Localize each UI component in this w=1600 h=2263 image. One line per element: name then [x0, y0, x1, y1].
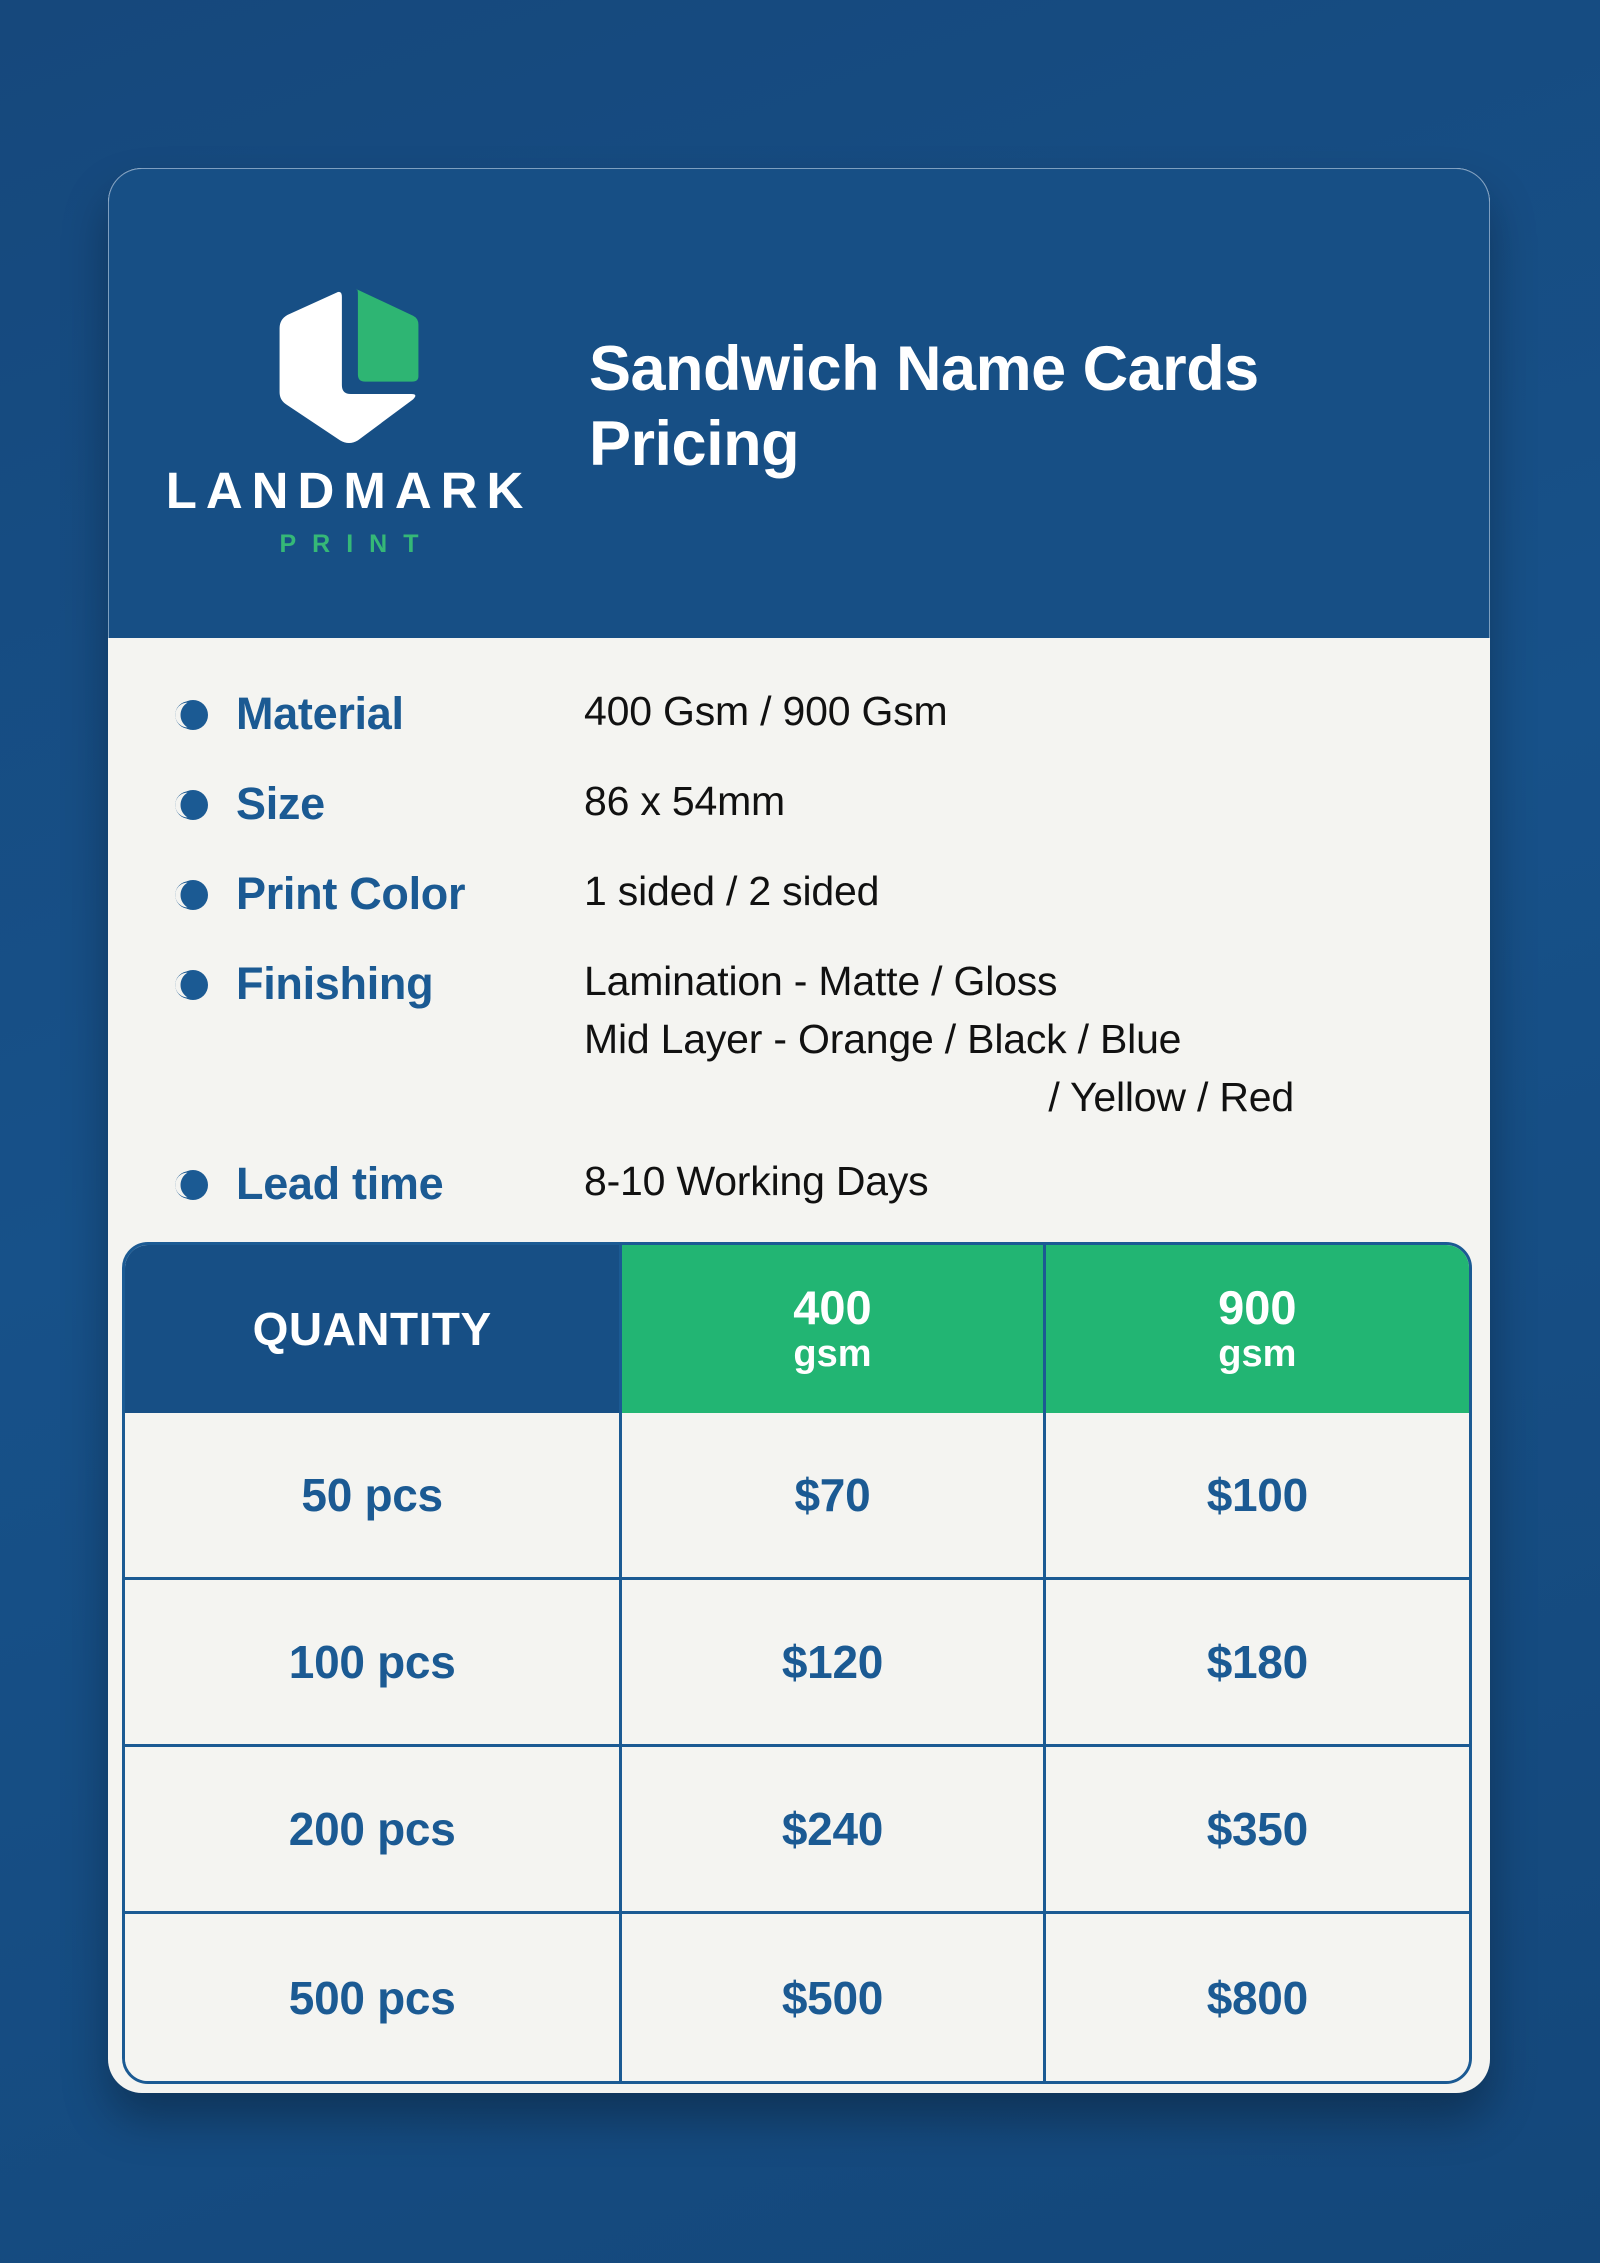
table-row: 200 pcs $240 $350 [125, 1747, 1469, 1914]
cell-price-400: $240 [622, 1747, 1045, 1914]
bullet-circle-icon [174, 1166, 210, 1202]
spec-values: 1 sided / 2 sided [584, 862, 1490, 920]
table-row: 100 pcs $120 $180 [125, 1580, 1469, 1747]
column-header-900gsm-value: 900 [1046, 1283, 1469, 1334]
bullet-circle-icon [174, 876, 210, 912]
cell-price-400: $120 [622, 1580, 1045, 1747]
bullet-circle-icon [174, 786, 210, 822]
cell-price-400: $500 [622, 1914, 1045, 2081]
cell-price-900: $100 [1046, 1413, 1469, 1580]
pricing-table-wrapper: QUANTITY 400 gsm 900 gsm 50 pcs [122, 1242, 1472, 2084]
table-row: 500 pcs $500 $800 [125, 1914, 1469, 2081]
card-header: LANDMARK PRINT Sandwich Name Cards Prici… [108, 168, 1490, 638]
bullet-circle-icon [174, 966, 210, 1002]
landmark-shield-logo-icon [260, 273, 438, 451]
brand-subtitle: PRINT [264, 532, 435, 557]
column-header-900gsm: 900 gsm [1046, 1245, 1469, 1413]
spec-label: Print Color [236, 862, 584, 926]
column-header-quantity: QUANTITY [125, 1245, 622, 1413]
table-header-row: QUANTITY 400 gsm 900 gsm [125, 1245, 1469, 1413]
spec-label: Size [236, 772, 584, 836]
column-header-400gsm: 400 gsm [622, 1245, 1045, 1413]
column-header-900gsm-unit: gsm [1046, 1333, 1469, 1376]
spec-values: 400 Gsm / 900 Gsm [584, 682, 1490, 740]
spec-list: Material 400 Gsm / 900 Gsm Size 86 x 54m… [108, 638, 1490, 1216]
page-title: Sandwich Name Cards Pricing [589, 326, 1489, 481]
spec-value-line: 1 sided / 2 sided [584, 862, 1490, 920]
spec-label: Lead time [236, 1152, 584, 1216]
spec-row-print-color: Print Color 1 sided / 2 sided [174, 862, 1490, 926]
pricing-table-body: 50 pcs $70 $100 100 pcs $120 $180 200 pc… [125, 1413, 1469, 2081]
cell-quantity: 100 pcs [125, 1580, 622, 1747]
spec-value-line: 400 Gsm / 900 Gsm [584, 682, 1490, 740]
spec-value-line: 86 x 54mm [584, 772, 1490, 830]
bullet-circle-icon [174, 696, 210, 732]
spec-row-size: Size 86 x 54mm [174, 772, 1490, 836]
column-header-400gsm-unit: gsm [622, 1333, 1042, 1376]
cell-price-900: $800 [1046, 1914, 1469, 2081]
spec-values: Lamination - Matte / Gloss Mid Layer - O… [584, 952, 1490, 1127]
cell-quantity: 500 pcs [125, 1914, 622, 2081]
cell-price-900: $180 [1046, 1580, 1469, 1747]
brand-name: LANDMARK [166, 465, 533, 516]
poster-canvas: LANDMARK PRINT Sandwich Name Cards Prici… [0, 0, 1600, 2263]
spec-value-line: / Yellow / Red [584, 1068, 1490, 1126]
spec-label: Finishing [236, 952, 584, 1016]
spec-row-lead-time: Lead time 8-10 Working Days [174, 1152, 1490, 1216]
spec-values: 8-10 Working Days [584, 1152, 1490, 1210]
table-row: 50 pcs $70 $100 [125, 1413, 1469, 1580]
pricing-card: LANDMARK PRINT Sandwich Name Cards Prici… [108, 168, 1490, 2093]
spec-label: Material [236, 682, 584, 746]
column-header-400gsm-value: 400 [622, 1283, 1042, 1334]
pricing-table: QUANTITY 400 gsm 900 gsm 50 pcs [122, 1242, 1472, 2084]
cell-price-900: $350 [1046, 1747, 1469, 1914]
spec-value-line: Mid Layer - Orange / Black / Blue [584, 1010, 1490, 1068]
cell-quantity: 200 pcs [125, 1747, 622, 1914]
spec-values: 86 x 54mm [584, 772, 1490, 830]
spec-row-material: Material 400 Gsm / 900 Gsm [174, 682, 1490, 746]
cell-price-400: $70 [622, 1413, 1045, 1580]
spec-value-line: Lamination - Matte / Gloss [584, 952, 1490, 1010]
spec-value-line: 8-10 Working Days [584, 1152, 1490, 1210]
pricing-table-head: QUANTITY 400 gsm 900 gsm [125, 1245, 1469, 1413]
cell-quantity: 50 pcs [125, 1413, 622, 1580]
brand-block: LANDMARK PRINT [109, 251, 589, 557]
spec-row-finishing: Finishing Lamination - Matte / Gloss Mid… [174, 952, 1490, 1127]
